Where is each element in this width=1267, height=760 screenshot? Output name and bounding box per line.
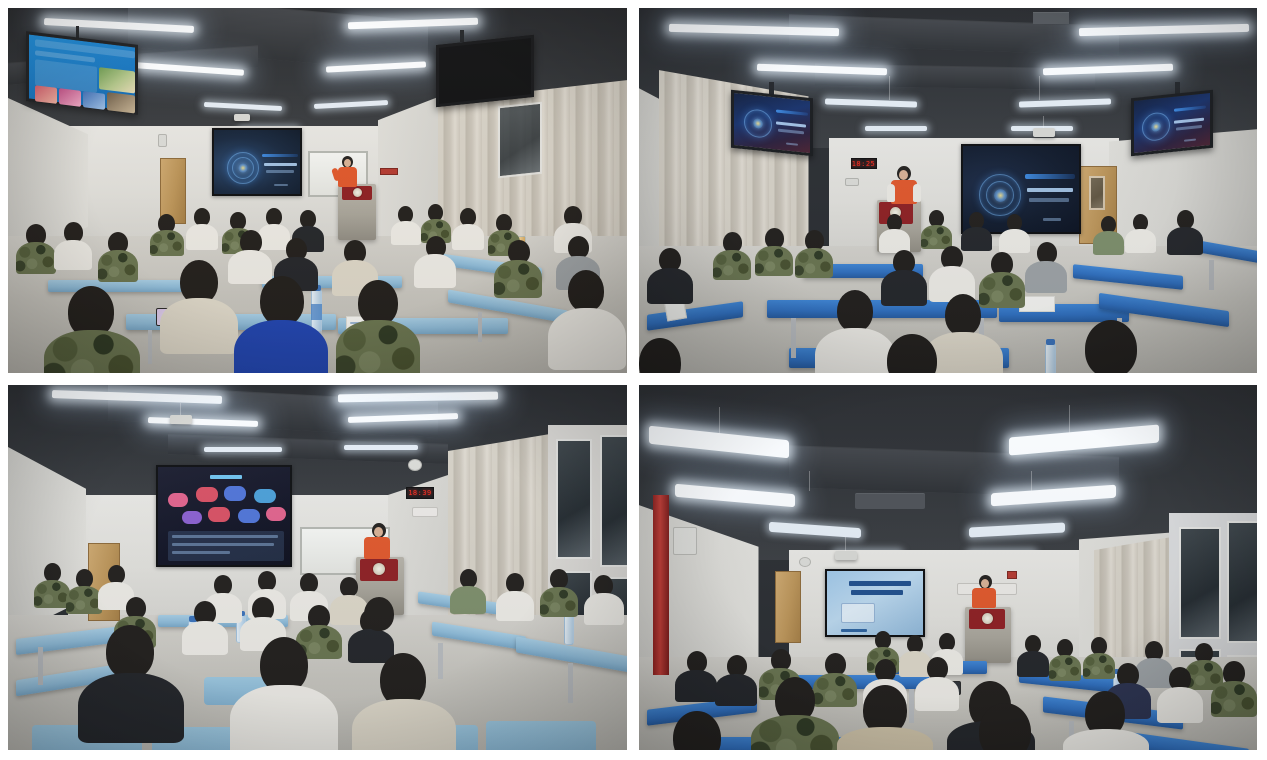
audience-body xyxy=(915,677,959,711)
slide-title-line xyxy=(210,475,242,479)
speaker-shirt xyxy=(887,184,895,202)
tv-thumbnail xyxy=(59,88,81,107)
window-pane xyxy=(600,435,627,567)
slide-text-line xyxy=(172,551,230,554)
slide-heading-line-2 xyxy=(851,590,903,595)
projector xyxy=(1033,128,1055,137)
light-suspension-rod xyxy=(809,471,810,491)
photo-collage: 18:25 xyxy=(0,0,1267,760)
wall-box xyxy=(673,527,697,555)
speaker-body xyxy=(364,537,390,559)
slide-subtitle-line xyxy=(1043,218,1061,221)
audience-body xyxy=(715,674,757,706)
collage-panel-bottom-right[interactable] xyxy=(639,385,1258,750)
light-suspension-rod xyxy=(1031,471,1032,491)
ceiling-tv-right[interactable] xyxy=(436,35,534,107)
collage-panel-bottom-left[interactable]: 18:39 xyxy=(8,385,627,750)
audience-body xyxy=(1135,658,1173,688)
door xyxy=(775,571,801,643)
exit-sign xyxy=(380,168,398,175)
podium-emblem xyxy=(352,187,363,198)
audience-body xyxy=(795,248,833,278)
slide-node xyxy=(238,509,260,523)
speaker-face xyxy=(981,579,989,588)
slide-node xyxy=(182,511,202,524)
projector-mount xyxy=(1043,116,1044,128)
audience-body xyxy=(584,593,624,625)
audience-body-foreground xyxy=(751,715,839,750)
slide-node xyxy=(266,507,286,521)
audience-body xyxy=(496,591,534,621)
audience-body-foreground xyxy=(352,699,456,750)
audience-body xyxy=(391,221,421,245)
ceiling-tv-right[interactable] xyxy=(1131,90,1213,157)
slide-text-line xyxy=(172,535,278,538)
tv-thumbnail xyxy=(83,91,105,110)
audience-body xyxy=(98,250,138,282)
audience-body-foreground xyxy=(78,673,184,743)
audience-body xyxy=(414,254,456,288)
audience-body xyxy=(258,224,290,250)
tv-accent-bar xyxy=(776,109,808,115)
slide-accent-bar xyxy=(1025,174,1075,179)
projector-mount xyxy=(180,403,181,415)
desk-leg xyxy=(438,643,443,679)
audience-body xyxy=(540,587,578,617)
slide-node xyxy=(224,486,246,501)
audience-body xyxy=(452,224,484,250)
slide-node xyxy=(208,507,230,522)
bottle-label xyxy=(311,304,322,320)
audience-body xyxy=(1167,227,1203,255)
audience-body xyxy=(881,270,927,306)
tv-thumbnail xyxy=(107,92,135,113)
desk-leg xyxy=(909,689,914,723)
audience-body-foreground xyxy=(548,308,626,370)
audience-body xyxy=(182,621,228,655)
window-pane xyxy=(498,102,542,179)
audience-body xyxy=(348,629,394,663)
light-suspension-rod xyxy=(1069,405,1070,433)
fire-pillar xyxy=(653,495,669,675)
audience-body xyxy=(1083,653,1115,679)
audience-body xyxy=(899,651,931,677)
tv-heading-line-1 xyxy=(1174,118,1204,124)
ceiling-speaker xyxy=(408,459,422,471)
audience-body xyxy=(755,246,793,276)
ceiling-light xyxy=(204,447,282,452)
audience-head-foreground xyxy=(260,276,304,326)
desk-leg xyxy=(148,330,152,364)
podium-emblem xyxy=(981,612,994,625)
tv-heading-line-1 xyxy=(776,121,806,127)
audience-body xyxy=(228,250,272,284)
desk-leg xyxy=(568,663,573,703)
ceiling-tv-left[interactable] xyxy=(731,90,813,157)
window-pane xyxy=(1179,527,1221,639)
audience-body-foreground xyxy=(815,328,895,373)
audience-body xyxy=(494,260,542,298)
audience-body xyxy=(66,586,102,614)
slide-node xyxy=(168,493,188,507)
audience-head-foreground xyxy=(106,625,154,679)
audience-body xyxy=(54,240,92,270)
wall-panel xyxy=(412,507,438,517)
projector xyxy=(835,551,857,560)
projection-screen xyxy=(212,128,302,196)
audience-body xyxy=(999,229,1030,253)
audience-body-foreground xyxy=(234,320,328,373)
audience-body-foreground xyxy=(44,330,140,373)
collage-panel-top-left[interactable] xyxy=(8,8,627,373)
audience-body xyxy=(1049,655,1081,681)
audience-head-foreground xyxy=(1085,320,1137,373)
audience-body xyxy=(921,225,952,249)
wall-speaker xyxy=(158,134,167,147)
projection-screen xyxy=(825,569,925,637)
projector xyxy=(234,114,250,121)
bottle-cap xyxy=(1046,339,1055,345)
slide-heading-line-1 xyxy=(849,581,911,586)
slide-node xyxy=(254,489,276,503)
audience-body xyxy=(1025,261,1067,293)
led-clock-text: 18:25 xyxy=(852,160,876,168)
audience-head-foreground xyxy=(945,294,981,336)
tv-thumbnail xyxy=(35,85,57,104)
ceiling-vent xyxy=(855,493,925,509)
audience-head-foreground xyxy=(568,270,604,312)
audience-body xyxy=(34,580,70,608)
tv-thumbnail xyxy=(99,67,135,93)
desk-leg xyxy=(1209,260,1214,290)
speaker-body xyxy=(338,167,357,187)
audience-head xyxy=(300,573,318,593)
led-clock-text: 18:39 xyxy=(408,489,432,497)
audience-body xyxy=(1017,651,1049,677)
slide-accent-bar xyxy=(262,154,298,157)
tv-heading-line-2 xyxy=(1176,125,1202,131)
audience-head xyxy=(214,575,232,595)
audience-body xyxy=(450,586,486,614)
chair-back xyxy=(486,721,596,750)
audience-body xyxy=(979,272,1025,308)
audience-body xyxy=(16,242,56,274)
light-suspension-rod xyxy=(719,407,720,435)
speaker-body xyxy=(972,588,996,608)
tv-subtitle-line xyxy=(786,142,798,145)
ceiling-light xyxy=(344,445,418,450)
ceiling-light xyxy=(865,126,927,131)
slide-text-line xyxy=(172,543,274,546)
slide-heading-line-2 xyxy=(266,170,294,173)
audience-body-foreground xyxy=(336,320,420,373)
audience-body xyxy=(713,250,751,280)
ceiling-speaker xyxy=(799,557,811,567)
slide-subtitle-line xyxy=(274,184,288,186)
audience-body-foreground xyxy=(230,685,338,750)
tv-mount xyxy=(460,30,464,42)
led-clock: 18:39 xyxy=(406,487,434,499)
light-suspension-rod xyxy=(889,76,890,100)
ceiling-vent xyxy=(1033,12,1069,24)
audience-head-foreground xyxy=(364,597,394,631)
slide-emblem xyxy=(238,163,248,173)
led-clock: 18:25 xyxy=(851,158,877,169)
audience-head xyxy=(550,569,568,589)
audience-head-foreground xyxy=(979,703,1031,750)
water-bottle xyxy=(564,615,574,645)
speaker-face xyxy=(344,159,351,167)
podium-emblem xyxy=(372,562,386,576)
audience-body xyxy=(1125,229,1156,253)
audience-body xyxy=(647,268,693,304)
audience-body xyxy=(1157,687,1203,723)
water-bottle xyxy=(1045,344,1056,373)
slide-emblem xyxy=(994,189,1007,202)
exit-sign xyxy=(1007,571,1017,579)
audience-head xyxy=(258,571,276,591)
slide-heading-line-2 xyxy=(1029,198,1069,202)
audience-head xyxy=(506,573,524,593)
speaker-shirt xyxy=(913,184,921,202)
audience-body-foreground xyxy=(837,727,933,750)
audience-body xyxy=(961,227,992,251)
slide-illustration xyxy=(841,603,875,623)
window-pane xyxy=(1227,521,1258,643)
door-window xyxy=(1089,176,1105,210)
audience-body xyxy=(186,224,218,250)
audience-head-foreground xyxy=(837,290,873,332)
slide-caption-line xyxy=(841,629,867,632)
slide-node xyxy=(196,487,218,502)
collage-panel-top-right[interactable]: 18:25 xyxy=(639,8,1258,373)
light-suspension-rod xyxy=(1039,76,1040,100)
desk-leg xyxy=(478,312,482,342)
audience-head xyxy=(340,577,358,597)
audience-body-foreground xyxy=(160,298,238,354)
audience-body xyxy=(1093,231,1124,255)
desk-leg xyxy=(38,647,43,685)
audience-body xyxy=(1211,681,1257,717)
audience-body xyxy=(675,670,717,702)
window-pane xyxy=(556,439,592,559)
tv-subtitle-line xyxy=(1184,138,1196,141)
tv-accent-bar xyxy=(1174,105,1206,111)
speaker-face xyxy=(374,527,383,537)
desk-leg xyxy=(791,318,796,358)
slide-heading-line-1 xyxy=(264,163,297,166)
projection-screen xyxy=(156,465,292,567)
slide-heading-line-1 xyxy=(1027,188,1073,192)
speaker-face xyxy=(899,170,908,180)
wall-plate xyxy=(845,178,859,186)
ceiling-tv-left[interactable] xyxy=(26,31,138,115)
projector xyxy=(170,415,192,424)
projector-mount xyxy=(845,537,846,551)
audience-body xyxy=(150,230,184,256)
audience-body xyxy=(813,673,857,707)
tv-heading-line-2 xyxy=(778,129,804,135)
